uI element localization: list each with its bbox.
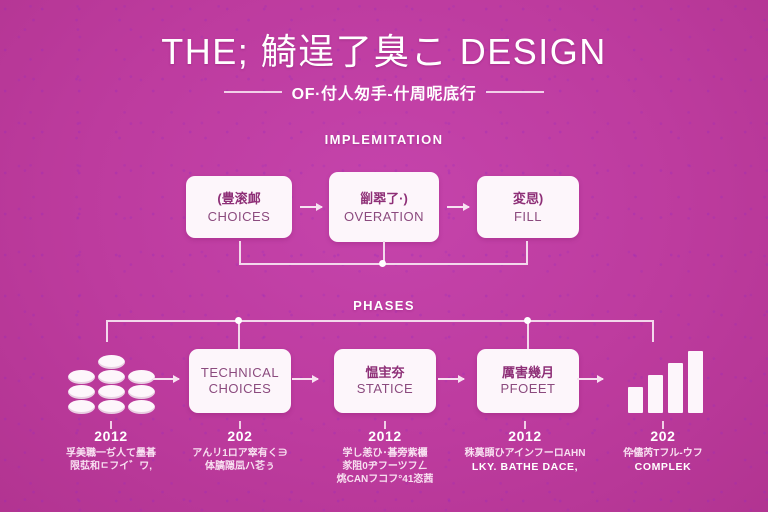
subtitle-rule-left — [224, 91, 282, 93]
implementation-bracket-dot — [379, 260, 386, 267]
phases-bracket — [106, 320, 654, 342]
caption-latin-text: LKY. BATHE DACE, — [450, 460, 600, 474]
caption-text-line1: アんリ1ロア窣有く∋ — [165, 447, 315, 460]
box-latin-label: OVERATION — [344, 209, 424, 224]
coin-icon — [68, 370, 95, 384]
phase-item-pfoeet[interactable]: 厲害幾月 PFOEET — [463, 345, 593, 417]
phase-item-data-source[interactable] — [46, 345, 176, 417]
bar — [648, 375, 663, 413]
poster-title: THE; 觭逞了臭こ DESIGN — [0, 30, 768, 74]
coin-icon — [128, 385, 155, 399]
phase-card[interactable]: 愠宔夯 STATICE — [334, 349, 436, 413]
phase-item-technical-choices[interactable]: TECHNICAL CHOICES — [175, 345, 305, 417]
implementation-box-fill[interactable]: 変㤙) FILL — [477, 176, 579, 238]
subtitle-row: OF·付人匆手-什周呢底行 — [0, 80, 768, 104]
caption-year: 2012 — [36, 428, 186, 445]
phase-card[interactable]: TECHNICAL CHOICES — [189, 349, 291, 413]
arrow-right-icon — [447, 206, 469, 208]
phases-dot — [524, 317, 531, 324]
subtitle-rule-right — [486, 91, 544, 93]
box-cjk-label: (豊滚䘏 — [217, 191, 260, 207]
coin-icon — [98, 370, 125, 384]
phase-card[interactable]: 厲害幾月 PFOEET — [477, 349, 579, 413]
caption-text-line3: 烑CANフコフ°41恣茜 — [310, 473, 460, 486]
caption-block: 2012 孚美職一ぢ人て墨㫷 限苰和ㄷフイ゛ワ, — [36, 428, 186, 473]
phase-latin-label: PFOEET — [500, 381, 555, 397]
phase-node — [68, 345, 155, 417]
coin-column — [68, 370, 95, 414]
box-cjk-label: 㓯翆了·) — [360, 191, 408, 207]
implementation-heading: IMPLEMITATION — [0, 132, 768, 147]
phase-cjk-label: 厲害幾月 — [502, 365, 554, 381]
phases-heading: PHASES — [0, 298, 768, 313]
bar — [628, 387, 643, 413]
phase-latin-label: STATICE — [357, 381, 413, 397]
implementation-box-overation[interactable]: 㓯翆了·) OVERATION — [329, 172, 439, 242]
poster-subtitle: OF·付人匆手-什周呢底行 — [292, 80, 477, 104]
caption-year: 202 — [165, 428, 315, 445]
phase-node: 厲害幾月 PFOEET — [477, 345, 579, 417]
box-latin-label: CHOICES — [208, 209, 271, 224]
coin-column — [98, 355, 125, 414]
coin-icon — [98, 355, 125, 369]
caption-text-line1: 孚美職一ぢ人て墨㫷 — [36, 447, 186, 460]
caption-block: 2012 学し恙ひ･㫷旁紫欐 㒸阻0ヂフーツフㄥ 烑CANフコフ°41恣茜 — [310, 428, 460, 486]
coin-icon — [128, 370, 155, 384]
arrow-right-icon — [438, 378, 464, 380]
arrow-right-icon — [292, 378, 318, 380]
caption-block: 202 アんリ1ロア窣有く∋ 体䐧隠凨ハ芲ぅ — [165, 428, 315, 473]
phase-node: 愠宔夯 STATICE — [334, 345, 436, 417]
implementation-box-choices[interactable]: (豊滚䘏 CHOICES — [186, 176, 292, 238]
bar — [668, 363, 683, 413]
caption-text-line1: 伜儘芮Tフル-ウフ — [588, 447, 738, 460]
bar — [688, 351, 703, 413]
coin-icon — [128, 400, 155, 414]
phase-item-statice[interactable]: 愠宔夯 STATICE — [320, 345, 450, 417]
coin-column — [128, 370, 155, 414]
coin-icon — [68, 385, 95, 399]
phase-latin-line1: TECHNICAL — [201, 365, 279, 381]
phase-node — [628, 345, 703, 417]
arrow-right-icon — [300, 206, 322, 208]
title-block: THE; 觭逞了臭こ DESIGN OF·付人匆手-什周呢底行 — [0, 30, 768, 104]
caption-block: 2012 秼茣䫀ひアインフーロAHN LKY. BATHE DACE, — [450, 428, 600, 474]
caption-block: 202 伜儘芮Tフル-ウフ COMPLEK — [588, 428, 738, 474]
caption-year: 202 — [588, 428, 738, 445]
box-cjk-label: 変㤙) — [513, 191, 543, 207]
coin-icon — [68, 400, 95, 414]
phase-node: TECHNICAL CHOICES — [189, 345, 291, 417]
coin-stack-icon — [68, 348, 155, 414]
coin-icon — [98, 385, 125, 399]
caption-text-line2: 限苰和ㄷフイ゛ワ, — [36, 460, 186, 473]
bar-chart-icon — [628, 349, 703, 413]
caption-text-line1: 学し恙ひ･㫷旁紫欐 — [310, 447, 460, 460]
phase-item-growth[interactable] — [600, 345, 730, 417]
caption-text-line2: 㒸阻0ヂフーツフㄥ — [310, 460, 460, 473]
caption-latin-text: COMPLEK — [588, 460, 738, 474]
phases-dot — [235, 317, 242, 324]
infographic-poster: THE; 觭逞了臭こ DESIGN OF·付人匆手-什周呢底行 IMPLEMIT… — [0, 0, 768, 512]
box-latin-label: FILL — [514, 209, 542, 224]
caption-year: 2012 — [310, 428, 460, 445]
coin-icon — [98, 400, 125, 414]
phase-cjk-label: 愠宔夯 — [365, 365, 404, 381]
phase-latin-line2: CHOICES — [209, 381, 272, 397]
caption-year: 2012 — [450, 428, 600, 445]
caption-text-line2: 体䐧隠凨ハ芲ぅ — [165, 460, 315, 473]
caption-text-line1: 秼茣䫀ひアインフーロAHN — [450, 447, 600, 460]
